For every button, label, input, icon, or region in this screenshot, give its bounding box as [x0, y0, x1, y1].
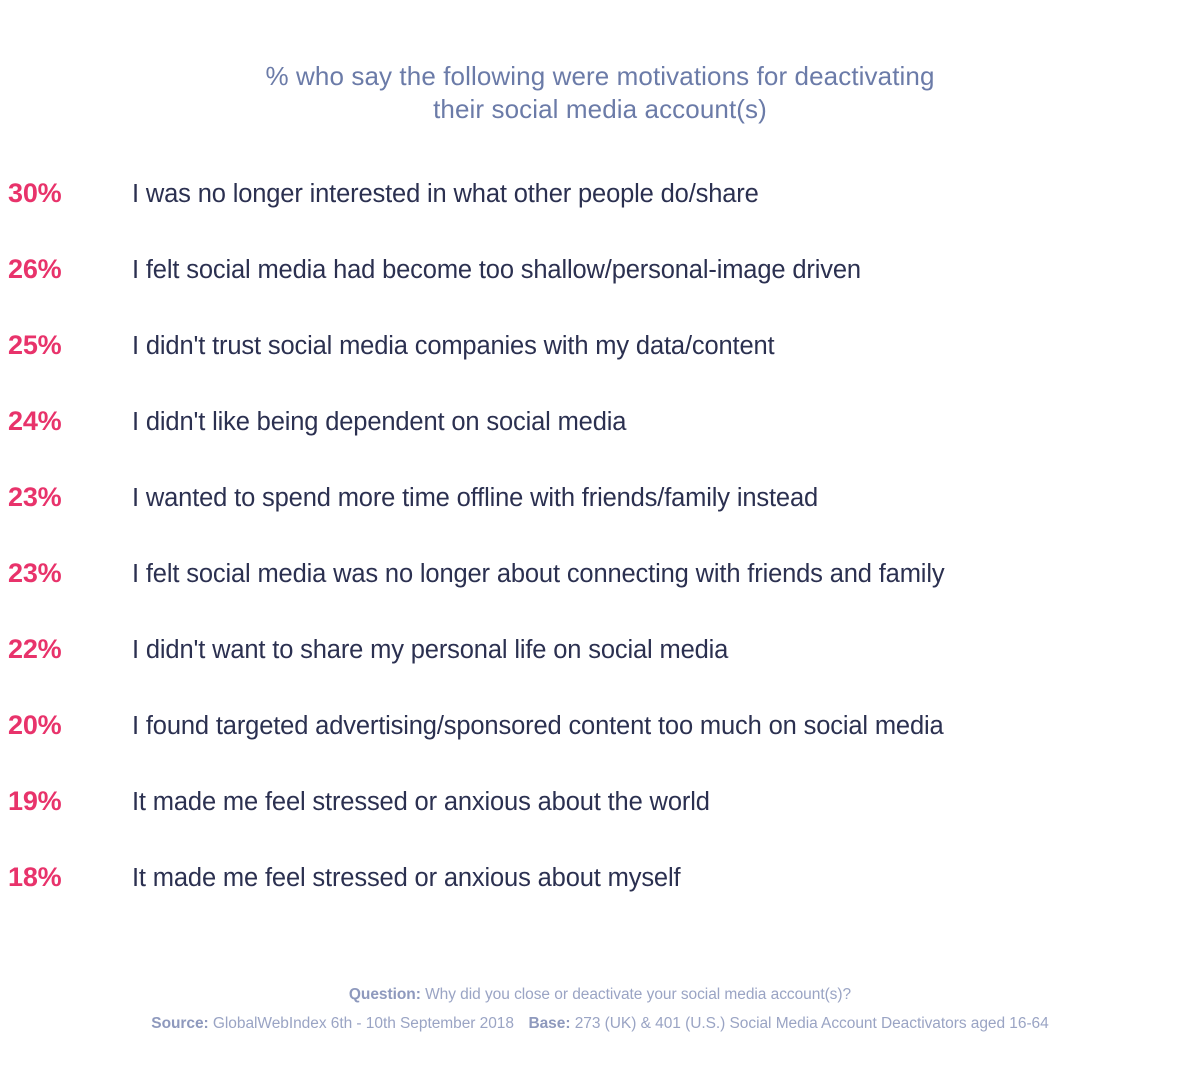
row-percentage: 26% — [0, 254, 132, 285]
row-label: I didn't like being dependent on social … — [132, 407, 1200, 437]
chart-title-line-2: their social media account(s) — [0, 93, 1200, 126]
footnote-question-text: Why did you close or deactivate your soc… — [425, 986, 851, 1003]
row-label: It made me feel stressed or anxious abou… — [132, 863, 1200, 893]
footnote-source: Source: GlobalWebIndex 6th - 10th Septem… — [0, 1009, 1200, 1038]
footnote-base-key: Base: — [528, 1015, 570, 1032]
motivations-list: 30% I was no longer interested in what o… — [0, 178, 1200, 938]
list-item: 18% It made me feel stressed or anxious … — [0, 862, 1200, 938]
list-item: 20% I found targeted advertising/sponsor… — [0, 710, 1200, 786]
footnote-question: Question: Why did you close or deactivat… — [0, 980, 1200, 1009]
chart-title: % who say the following were motivations… — [0, 0, 1200, 126]
row-percentage: 23% — [0, 482, 132, 513]
footnote-source-text: GlobalWebIndex 6th - 10th September 2018 — [213, 1015, 514, 1032]
footnote-source-key: Source: — [151, 1015, 208, 1032]
row-percentage: 18% — [0, 862, 132, 893]
row-label: I was no longer interested in what other… — [132, 179, 1200, 209]
row-label: I wanted to spend more time offline with… — [132, 483, 1200, 513]
list-item: 26% I felt social media had become too s… — [0, 254, 1200, 330]
row-label: I didn't trust social media companies wi… — [132, 331, 1200, 361]
list-item: 24% I didn't like being dependent on soc… — [0, 406, 1200, 482]
footnote-base-text: 273 (UK) & 401 (U.S.) Social Media Accou… — [575, 1015, 1049, 1032]
footnote-question-key: Question: — [349, 986, 421, 1003]
list-item: 25% I didn't trust social media companie… — [0, 330, 1200, 406]
row-label: I didn't want to share my personal life … — [132, 635, 1200, 665]
row-percentage: 30% — [0, 178, 132, 209]
list-item: 19% It made me feel stressed or anxious … — [0, 786, 1200, 862]
row-percentage: 22% — [0, 634, 132, 665]
row-percentage: 20% — [0, 710, 132, 741]
chart-title-line-1: % who say the following were motivations… — [0, 60, 1200, 93]
row-percentage: 25% — [0, 330, 132, 361]
list-item: 30% I was no longer interested in what o… — [0, 178, 1200, 254]
row-percentage: 19% — [0, 786, 132, 817]
list-item: 23% I felt social media was no longer ab… — [0, 558, 1200, 634]
list-item: 23% I wanted to spend more time offline … — [0, 482, 1200, 558]
list-item: 22% I didn't want to share my personal l… — [0, 634, 1200, 710]
row-label: I felt social media had become too shall… — [132, 255, 1200, 285]
infographic-root: % who say the following were motivations… — [0, 0, 1200, 1090]
row-percentage: 23% — [0, 558, 132, 589]
footnotes: Question: Why did you close or deactivat… — [0, 980, 1200, 1038]
row-label: I found targeted advertising/sponsored c… — [132, 711, 1200, 741]
row-label: It made me feel stressed or anxious abou… — [132, 787, 1200, 817]
row-label: I felt social media was no longer about … — [132, 559, 1200, 589]
row-percentage: 24% — [0, 406, 132, 437]
